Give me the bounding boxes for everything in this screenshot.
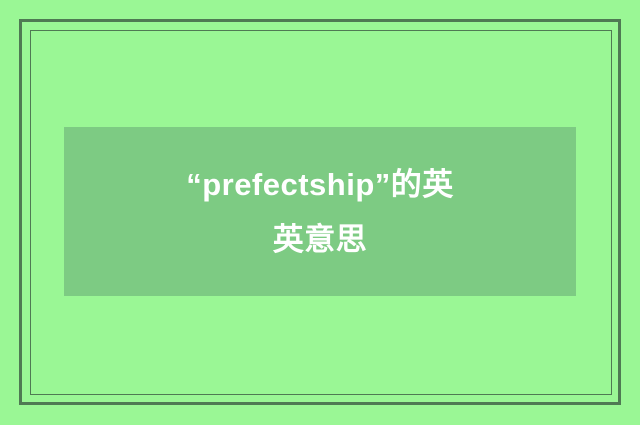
title-card-panel: “prefectship”的英英意思 [64, 127, 576, 296]
page-canvas: “prefectship”的英英意思 [0, 0, 640, 425]
page-title: “prefectship”的英英意思 [64, 157, 576, 267]
